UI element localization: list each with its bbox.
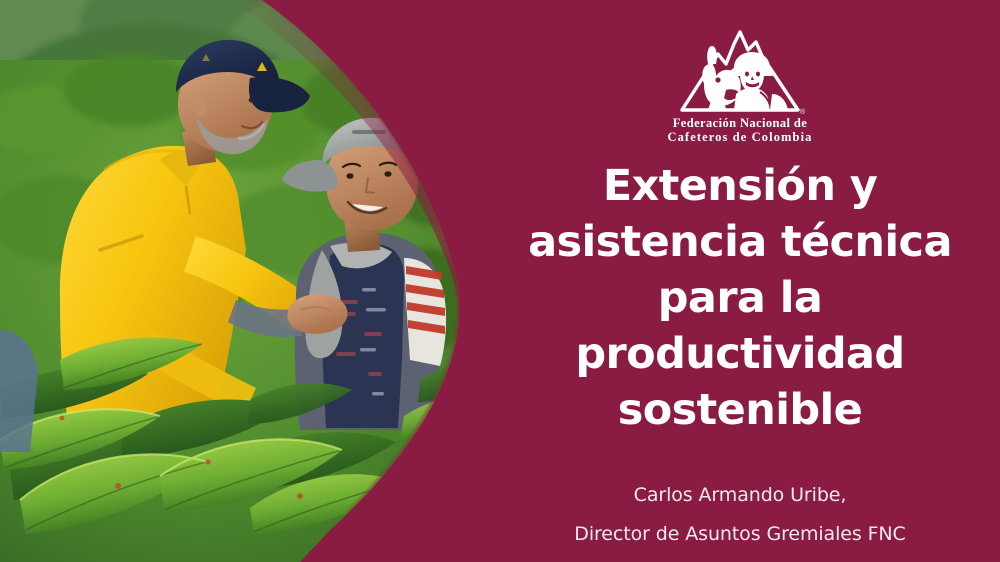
handshake	[287, 294, 347, 334]
svg-text:®: ®	[800, 108, 806, 116]
speaker-name: Carlos Armando Uribe,	[490, 476, 990, 515]
title-line-1: Extensión y	[490, 158, 990, 214]
title-line-2: asistencia técnica	[490, 214, 990, 270]
title-line-3: para la	[490, 270, 990, 326]
logo-text-line-2: Cafeteros de Colombia	[640, 130, 840, 144]
speaker-role: Director de Asuntos Gremiales FNC	[490, 515, 990, 554]
juan-valdez-mountain-icon: ®	[674, 24, 806, 116]
speaker-attribution: Carlos Armando Uribe, Director de Asunto…	[490, 476, 990, 554]
coffee-farmers-photo	[0, 0, 500, 562]
logo-text-line-1: Federación Nacional de	[640, 116, 840, 130]
slide-title: Extensión y asistencia técnica para la p…	[490, 158, 990, 438]
fnc-logo: ® Federación Nacional de Cafeteros de Co…	[640, 24, 840, 144]
title-line-5: sostenible	[490, 382, 990, 438]
photo-container	[0, 0, 500, 562]
title-line-4: productividad	[490, 326, 990, 382]
presentation-slide: ® Federación Nacional de Cafeteros de Co…	[0, 0, 1000, 562]
